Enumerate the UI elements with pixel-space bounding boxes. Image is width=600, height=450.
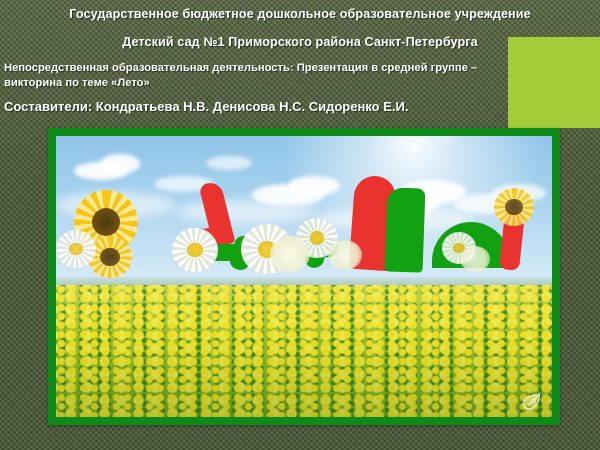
institution-title-line-2: Детский сад №1 Приморского района Санкт-… xyxy=(0,35,600,49)
photo-dandelion-puff xyxy=(328,240,362,270)
activity-subtitle-line-2: викторина по теме «Лето» xyxy=(4,76,594,91)
photo-cloud xyxy=(288,176,340,196)
leaf-watermark-icon xyxy=(521,389,543,411)
institution-title-line-1: Государственное бюджетное дошкольное обр… xyxy=(0,7,600,21)
photo-meadow-shading xyxy=(56,285,552,417)
flower-core xyxy=(310,231,324,245)
flower-petals xyxy=(460,246,490,272)
photo-sunflower xyxy=(494,188,534,226)
summer-meadow-photo xyxy=(56,136,552,417)
picture-frame xyxy=(48,128,560,425)
flower-core xyxy=(92,208,120,236)
activity-subtitle-line-1: Непосредственная образовательная деятель… xyxy=(4,61,594,76)
flower-petals xyxy=(328,240,362,270)
flower-core xyxy=(69,243,83,256)
activity-subtitle: Непосредственная образовательная деятель… xyxy=(4,61,594,91)
flower-core xyxy=(100,248,119,266)
photo-daisy xyxy=(56,230,96,268)
photo-dandelion-puff xyxy=(270,236,310,272)
flower-petals xyxy=(270,236,310,272)
photo-dandelion-puff xyxy=(460,246,490,272)
photo-cloud xyxy=(176,200,316,224)
flower-core xyxy=(505,199,523,216)
presentation-slide: Государственное бюджетное дошкольное обр… xyxy=(0,0,600,450)
flower-core xyxy=(187,243,203,258)
photo-daisy xyxy=(172,228,218,272)
authors-line: Составители: Кондратьева Н.В. Денисова Н… xyxy=(4,99,594,114)
photo-cloud xyxy=(206,156,252,170)
decor-letter-stroke xyxy=(385,187,426,272)
photo-cloud xyxy=(100,154,140,174)
